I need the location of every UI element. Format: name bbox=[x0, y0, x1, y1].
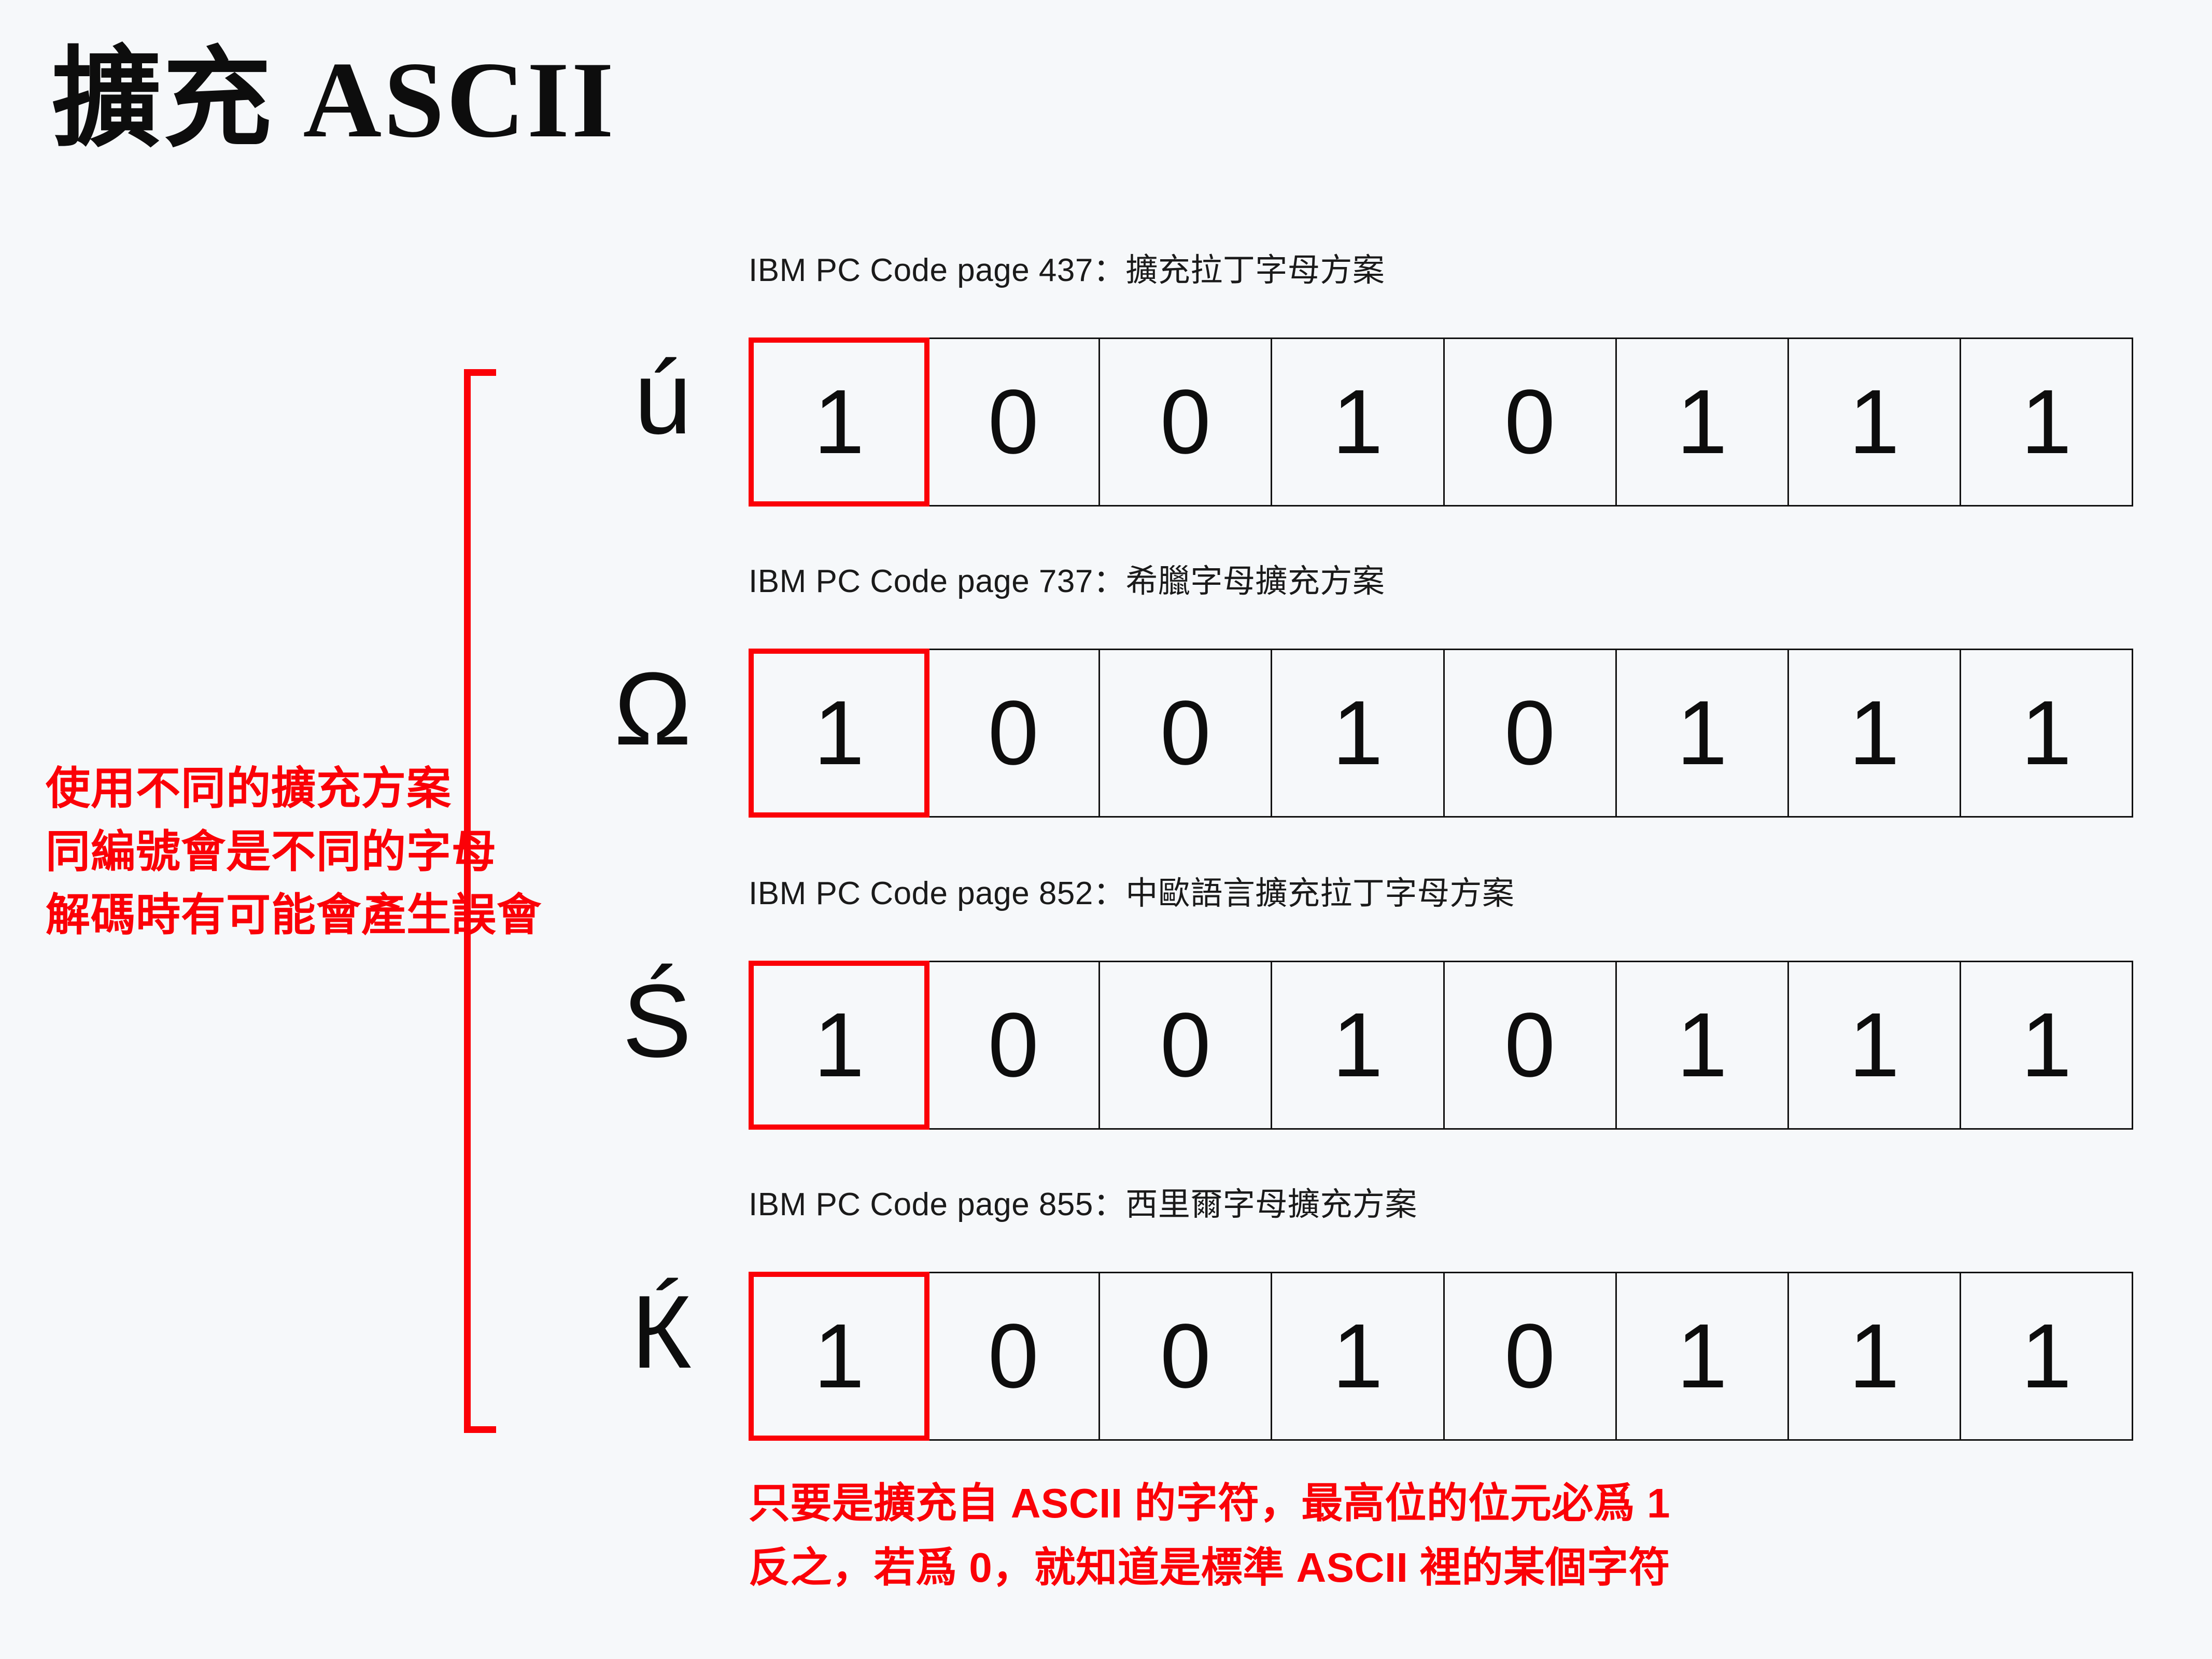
bit-cell[interactable]: 0 bbox=[928, 1272, 1100, 1441]
bit-grid: 1 0 0 1 0 1 1 1 bbox=[749, 1272, 2133, 1441]
bit-cell[interactable]: 0 bbox=[1100, 1272, 1272, 1441]
slide-canvas: 擴充 ASCII 使用不同的擴充方案 同編號會是不同的字母 解碼時有可能會產生誤… bbox=[0, 0, 2212, 1659]
bottom-annotation-line-2: 反之，若爲 0，就知道是標準 ASCII 裡的某個字符 bbox=[749, 1536, 2148, 1600]
bit-cell[interactable]: 1 bbox=[1272, 961, 1444, 1130]
page-title: 擴充 ASCII bbox=[52, 46, 616, 154]
bit-cell[interactable]: 0 bbox=[928, 649, 1100, 818]
bit-cell[interactable]: 1 bbox=[1961, 338, 2133, 507]
bit-cell[interactable]: 0 bbox=[1100, 649, 1272, 818]
bit-cell[interactable]: 0 bbox=[1445, 961, 1617, 1130]
bit-cell[interactable]: 1 bbox=[1961, 1272, 2133, 1441]
codepage-label: IBM PC Code page 437：擴充拉丁字母方案 bbox=[749, 244, 1385, 290]
character-glyph: Ќ bbox=[539, 1244, 715, 1421]
character-glyph: ú bbox=[539, 310, 715, 486]
bit-cell[interactable]: 1 bbox=[1961, 961, 2133, 1130]
bottom-annotation-line-1: 只要是擴充自 ASCII 的字符，最高位的位元必爲 1 bbox=[749, 1471, 2148, 1536]
bit-grid: 1 0 0 1 0 1 1 1 bbox=[749, 961, 2133, 1130]
bit-cell-msb[interactable]: 1 bbox=[749, 961, 929, 1130]
bit-cell[interactable]: 1 bbox=[1789, 961, 1961, 1130]
group-bracket-icon bbox=[464, 369, 496, 1433]
bit-cell[interactable]: 0 bbox=[1445, 649, 1617, 818]
bit-cell[interactable]: 0 bbox=[928, 338, 1100, 507]
codepage-label: IBM PC Code page 852：中歐語言擴充拉丁字母方案 bbox=[749, 867, 1514, 913]
bit-cell[interactable]: 1 bbox=[1617, 338, 1789, 507]
bit-cell[interactable]: 0 bbox=[1445, 1272, 1617, 1441]
bit-cell-msb[interactable]: 1 bbox=[749, 1272, 929, 1441]
bottom-annotation-note: 只要是擴充自 ASCII 的字符，最高位的位元必爲 1 反之，若爲 0，就知道是… bbox=[749, 1471, 2148, 1600]
bit-grid: 1 0 0 1 0 1 1 1 bbox=[749, 338, 2133, 507]
bit-cell[interactable]: 1 bbox=[1272, 649, 1444, 818]
bit-cell-msb[interactable]: 1 bbox=[749, 649, 929, 818]
bit-cell[interactable]: 1 bbox=[1617, 649, 1789, 818]
bracket-bottom-stroke bbox=[464, 1426, 496, 1433]
character-glyph: Ś bbox=[539, 933, 715, 1109]
bit-cell[interactable]: 1 bbox=[1789, 649, 1961, 818]
bit-cell[interactable]: 0 bbox=[928, 961, 1100, 1130]
bit-cell[interactable]: 1 bbox=[1617, 1272, 1789, 1441]
bit-grid: 1 0 0 1 0 1 1 1 bbox=[749, 649, 2133, 818]
bit-cell[interactable]: 1 bbox=[1961, 649, 2133, 818]
bit-cell[interactable]: 1 bbox=[1272, 1272, 1444, 1441]
bit-cell[interactable]: 1 bbox=[1789, 1272, 1961, 1441]
left-annotation-line-2: 同編號會是不同的字母 bbox=[46, 820, 616, 883]
bracket-top-stroke bbox=[464, 369, 496, 376]
character-glyph: Ω bbox=[539, 621, 715, 797]
bit-cell-msb[interactable]: 1 bbox=[749, 338, 929, 507]
bit-cell[interactable]: 1 bbox=[1272, 338, 1444, 507]
bit-cell[interactable]: 0 bbox=[1100, 961, 1272, 1130]
left-annotation-note: 使用不同的擴充方案 同編號會是不同的字母 解碼時有可能會產生誤會 bbox=[46, 757, 616, 947]
bit-cell[interactable]: 1 bbox=[1789, 338, 1961, 507]
bit-cell[interactable]: 0 bbox=[1445, 338, 1617, 507]
left-annotation-line-1: 使用不同的擴充方案 bbox=[46, 757, 616, 820]
codepage-label: IBM PC Code page 855：西里爾字母擴充方案 bbox=[749, 1178, 1417, 1225]
bit-cell[interactable]: 1 bbox=[1617, 961, 1789, 1130]
bit-cell[interactable]: 0 bbox=[1100, 338, 1272, 507]
left-annotation-line-3: 解碼時有可能會產生誤會 bbox=[46, 883, 616, 947]
codepage-label: IBM PC Code page 737：希臘字母擴充方案 bbox=[749, 555, 1385, 601]
bracket-vertical-stroke bbox=[464, 369, 471, 1433]
